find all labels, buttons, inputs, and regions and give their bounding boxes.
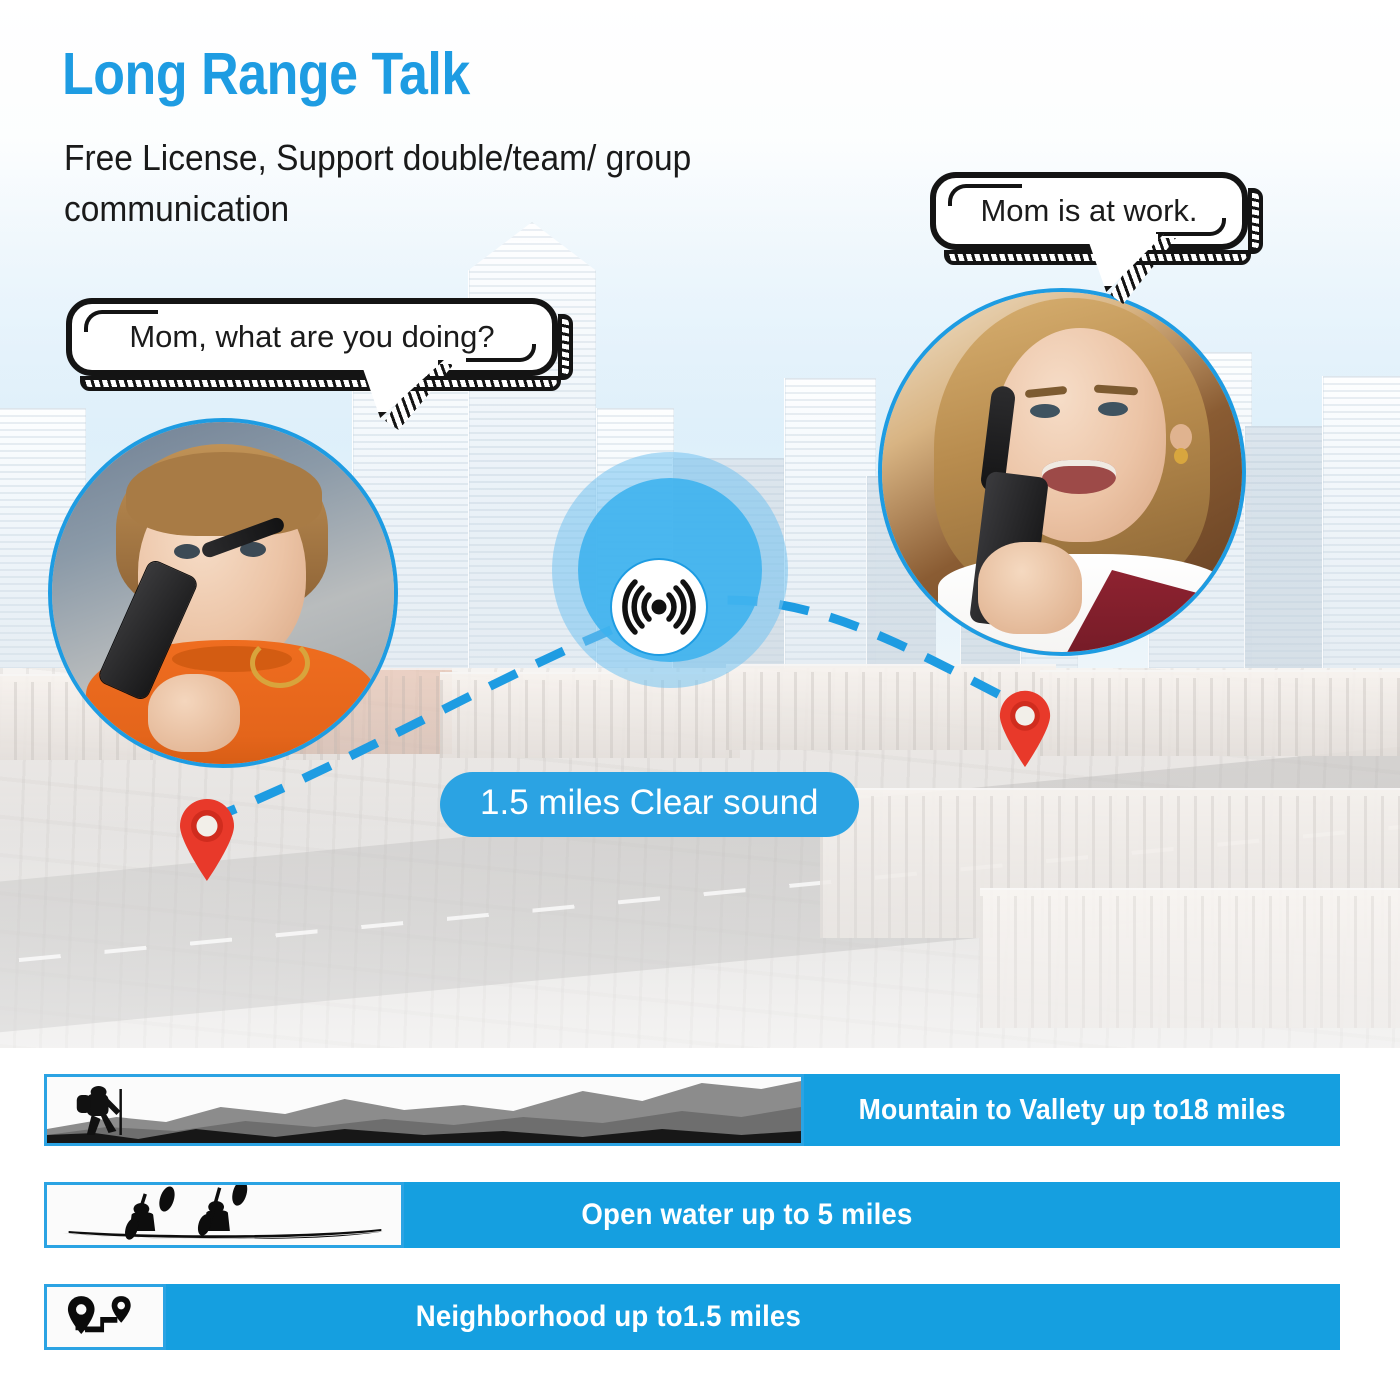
feature-bar: Open water up to 5 miles: [404, 1182, 1340, 1248]
mother-eye-left: [1030, 404, 1060, 418]
child-eye-left: [174, 544, 200, 559]
speech-bubble-text: Mom, what are you doing?: [123, 319, 500, 355]
speech-bubble-mother: Mom is at work.: [930, 172, 1248, 250]
feature-label: Mountain to Vallety up to18 miles: [858, 1094, 1285, 1127]
infographic-page: Mom, what are you doing? Mom is at work.…: [0, 0, 1400, 1400]
bubble-sketch-arc: [948, 184, 1022, 206]
bubble-sketch-arc: [1156, 218, 1226, 236]
mother-hand: [978, 542, 1082, 634]
hero-scene: Mom, what are you doing? Mom is at work.…: [0, 0, 1400, 1048]
kayak-icon: [44, 1182, 404, 1248]
bubble-tail-body: [360, 360, 444, 418]
feature-row: Mountain to Vallety up to18 miles: [44, 1074, 1340, 1146]
bubble-sketch-arc: [466, 344, 536, 362]
child-necklace: [250, 638, 310, 688]
feature-bar: Mountain to Vallety up to18 miles: [804, 1074, 1340, 1146]
map-pin-icon: [996, 688, 1054, 773]
bubble-tail: [360, 364, 444, 422]
hiker-mountain-icon: [44, 1074, 804, 1146]
mother-mouth: [1042, 460, 1116, 494]
radio-signal-icon: [610, 558, 708, 656]
bubble-tail: [1086, 238, 1164, 296]
feature-row: Open water up to 5 miles: [44, 1182, 1340, 1248]
map-pin-icon: [176, 796, 238, 887]
bubble-tail-body: [1086, 234, 1164, 292]
child-fringe: [126, 452, 322, 536]
feature-bar: Neighborhood up to1.5 miles: [166, 1284, 1340, 1350]
bubble-shadow-right: [558, 314, 573, 380]
feature-list: Mountain to Vallety up to18 miles: [0, 1060, 1400, 1400]
mother-ear: [1170, 424, 1192, 450]
bubble-shadow-bottom: [80, 376, 561, 391]
bubble-sketch-arc: [84, 310, 158, 332]
distance-badge: 1.5 miles Clear sound: [440, 772, 859, 837]
avatar-mother: [878, 288, 1246, 656]
speech-bubble-child: Mom, what are you doing?: [66, 298, 558, 376]
child-hand: [148, 674, 240, 752]
mother-eye-right: [1098, 402, 1128, 416]
route-pins-icon: [44, 1284, 166, 1350]
bubble-shadow-right: [1248, 188, 1263, 254]
mother-earring: [1174, 448, 1188, 464]
avatar-child: [48, 418, 398, 768]
feature-row: Neighborhood up to1.5 miles: [44, 1284, 1340, 1350]
feature-label: Neighborhood up to1.5 miles: [415, 1300, 800, 1334]
feature-label: Open water up to 5 miles: [581, 1198, 912, 1232]
